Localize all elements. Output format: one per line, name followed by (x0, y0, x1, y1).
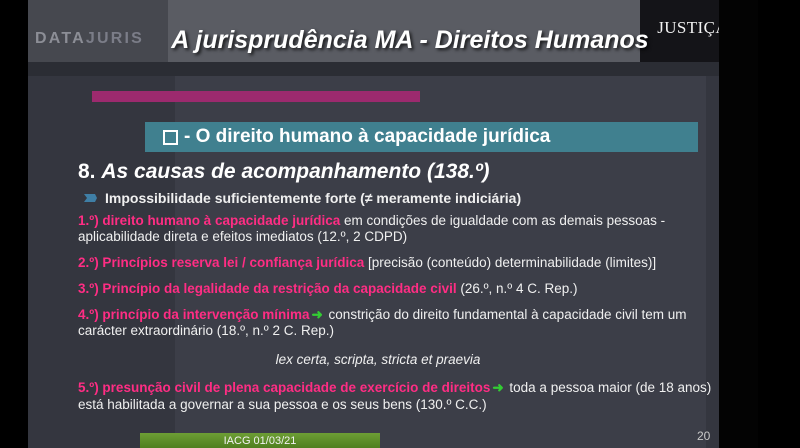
body-line-1-emphasis: 1.º) direito humano à capacidade jurídic… (78, 213, 340, 228)
body-line-5-emphasis: 5.º) presunção civil de plena capacidade… (78, 380, 490, 395)
body-text-block: 1.º) direito humano à capacidade jurídic… (78, 213, 718, 349)
body-line-5: 5.º) presunção civil de plena capacidade… (78, 379, 723, 413)
footer-green-bar: IACG 01/03/21 (140, 433, 380, 448)
body-line-4: 4.º) princípio da intervenção mínima➜ co… (78, 307, 718, 339)
footer-label: IACG 01/03/21 (224, 435, 297, 447)
watermark-suffix: JURIS (86, 30, 144, 47)
letterbox-right (758, 0, 800, 448)
section-heading-number: 8. (78, 160, 96, 183)
body-line-2-emphasis: 2.º) Princípios reserva lei / confiança … (78, 255, 364, 270)
page-title: A jurisprudência MA - Direitos Humanos (150, 26, 670, 55)
body-line-3: 3.º) Princípio da legalidade da restriçã… (78, 281, 718, 297)
slide-header-shadow (28, 62, 758, 76)
section-heading: 8. As causas de acompanhamento (138.º) (78, 160, 490, 184)
body-line-3-emphasis: 3.º) Princípio da legalidade da restriçã… (78, 281, 457, 296)
checkbox-square-icon (163, 130, 178, 145)
arrow-bullet-icon (84, 193, 97, 203)
lex-latin-phrase: lex certa, scripta, stricta et praevia (78, 352, 678, 367)
sub-bullet-label: Impossibilidade suficientemente forte (≠… (105, 190, 521, 206)
body-line-2-text: [precisão (conteúdo) determinabilidade (… (364, 255, 656, 270)
slide-canvas: DATAJURIS A jurisprudência MA - Direitos… (0, 0, 800, 448)
letterbox-left (0, 0, 28, 448)
section-heading-text: As causas de acompanhamento (138.º) (101, 160, 489, 183)
body-line-1: 1.º) direito humano à capacidade jurídic… (78, 213, 718, 245)
section-banner-label: - O direito humano à capacidade jurídica (184, 126, 550, 148)
section-banner: - O direito humano à capacidade jurídica (145, 122, 698, 152)
page-number: 20 (697, 429, 710, 443)
letterbox-middle (719, 0, 761, 448)
slide-screen: DATAJURIS A jurisprudência MA - Direitos… (0, 0, 800, 448)
body-line-4-emphasis: 4.º) princípio da intervenção mínima (78, 307, 309, 322)
datajuris-watermark: DATAJURIS (35, 30, 144, 48)
body-line-2: 2.º) Princípios reserva lei / confiança … (78, 255, 718, 271)
watermark-prefix: DATA (35, 30, 86, 47)
magenta-accent-bar (92, 91, 420, 102)
logo-wordmark: JUSTIÇA (657, 19, 728, 36)
green-arrow-icon-2: ➜ (490, 380, 505, 395)
green-arrow-icon-1: ➜ (309, 307, 324, 322)
sub-bullet-row: Impossibilidade suficientemente forte (≠… (84, 190, 521, 206)
body-line-3-text: (26.º, n.º 4 C. Rep.) (457, 281, 578, 296)
